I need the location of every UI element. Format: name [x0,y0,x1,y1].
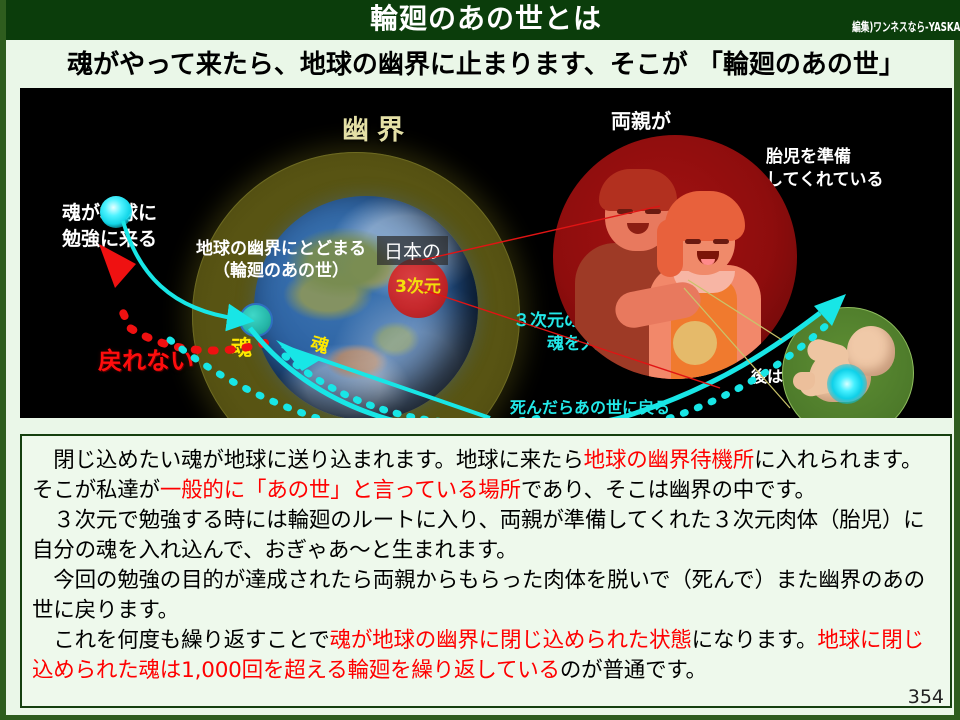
body-text-run: であり、そこは幽界の中です。 [521,478,816,503]
slide-title-bar: 輪廻のあの世とは 編集)ワンネスなら-YASKA [6,0,960,40]
body-text-run: これを何度も繰り返すことで [32,628,330,653]
parents-illustration [553,135,797,379]
parents-label: 両親が [611,105,671,134]
body-text-run: 閉じ込めたい魂が地球に送り込まれます。地球に来たら [32,448,584,473]
soul-orb-ghost-realm [239,303,273,337]
mother-eye-left [685,239,701,244]
third-dimension-label: 3次元 [388,272,448,297]
ghost-realm-label: 幽界 [342,108,412,147]
page-number: 354 [908,686,944,708]
stays-in-ghost-realm-label: 地球の幽界にとどまる （輪廻のあの世） [196,238,366,282]
diagram-canvas: 幽界 3次元 日本の 魂が地球に 勉強に来る 地球の幽界にとどまる （輪廻のあの… [20,88,952,418]
stays-label-line2: （輪廻のあの世） [196,260,366,282]
father-hair [599,169,677,211]
body-text-run: になります。 [692,628,818,653]
page-title: 輪廻のあの世とは [6,0,960,39]
soul-label-left: 魂 [231,332,252,362]
body-paragraph: ３次元で勉強する時には輪廻のルートに入り、両親が準備してくれた３次元肉体（胎児）… [32,506,938,566]
body-text-run: ３次元で勉強する時には輪廻のルートに入り、両親が準備してくれた３次元肉体（胎児）… [32,508,924,563]
body-paragraph: これを何度も繰り返すことで魂が地球の幽界に閉じ込められた状態になります。地球に閉… [32,626,938,686]
fetus-foot [793,372,815,390]
fetus-illustration [782,307,914,418]
father-eye-left [617,209,633,214]
body-paragraph: 今回の勉強の目的が達成されたら両親からもらった肉体を脱いで（死んで）また幽界のあ… [32,566,938,626]
soul-glow-icon [827,364,867,404]
mother-eye-right [713,239,729,244]
prepare-fetus-line2: してくれている [766,169,883,192]
body-paragraphs: 閉じ込めたい魂が地球に送り込まれます。地球に来たら地球の幽界待機所に入れられます… [32,446,938,686]
father-eye-right [645,209,661,214]
body-text-run: 今回の勉強の目的が達成されたら両親からもらった肉体を脱いで（死んで）また幽界のあ… [32,568,925,623]
mother-belly-highlight [673,321,717,365]
body-text-box: 閉じ込めたい魂が地球に送り込まれます。地球に来たら地球の幽界待機所に入れられます… [20,434,952,708]
highlighted-text: 一般的に「あの世」と言っている場所 [160,478,521,503]
highlighted-text: 地球の幽界待機所 [584,448,754,473]
mother-hair-side [657,219,683,277]
editor-credit: 編集)ワンネスなら-YASKA [852,18,960,35]
body-text-run: のが普通です。 [560,658,707,683]
return-after-death-label: 死んだらあの世に戻る [510,394,670,418]
japan-label: 日本の [377,236,448,265]
prepare-fetus-line1: 胎児を準備 [766,146,883,169]
soul-comes-label-line2: 勉強に来る [62,226,157,252]
earth-globe [254,196,478,418]
subtitle: 魂がやって来たら、地球の幽界に止まります、そこが 「輪廻のあの世」 [6,44,960,86]
prepare-fetus-label: 胎児を準備 してくれている [766,146,883,192]
soul-orb-incoming [100,196,132,228]
cannot-return-label: 戻れない [98,341,194,376]
highlighted-text: 魂が地球の幽界に閉じ込められた状態 [330,628,692,653]
third-dimension-marker: 3次元 [388,258,448,318]
slide-root: 輪廻のあの世とは 編集)ワンネスなら-YASKA 魂がやって来たら、地球の幽界に… [0,0,960,720]
stays-label-line1: 地球の幽界にとどまる [196,238,366,260]
body-paragraph: 閉じ込めたい魂が地球に送り込まれます。地球に来たら地球の幽界待機所に入れられます… [32,446,938,506]
